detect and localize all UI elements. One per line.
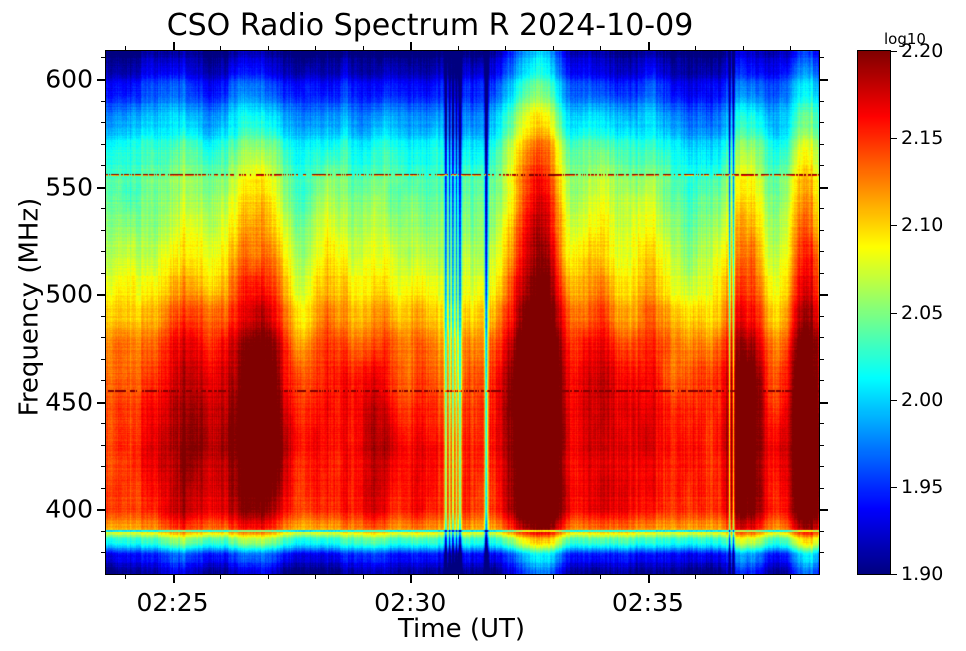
y-tick-minor <box>101 165 106 166</box>
y-tick-minor-right <box>819 316 824 317</box>
y-tick-label: 500 <box>45 280 93 309</box>
y-tick-minor <box>101 230 106 231</box>
x-tick-major <box>648 574 650 583</box>
x-tick-minor-top <box>458 46 459 51</box>
y-tick-minor-right <box>819 57 824 58</box>
y-tick-minor <box>101 57 106 58</box>
colorbar-tick <box>890 487 897 488</box>
x-tick-minor-top <box>505 46 506 51</box>
colorbar-tick <box>890 313 897 314</box>
y-tick-label: 550 <box>45 172 93 201</box>
y-tick-minor <box>101 423 106 424</box>
x-tick-minor <box>743 574 744 579</box>
y-axis-label: Frequency (MHz) <box>15 46 45 569</box>
colorbar: 1.901.952.002.052.102.152.20 <box>857 50 891 575</box>
y-tick-minor <box>101 359 106 360</box>
y-tick-major-right <box>819 294 828 296</box>
y-tick-minor-right <box>819 531 824 532</box>
colorbar-tick-label: 1.90 <box>901 563 943 585</box>
y-tick-minor-right <box>819 101 824 102</box>
x-tick-minor-top <box>600 46 601 51</box>
x-tick-minor-top <box>315 46 316 51</box>
spectrogram-image <box>106 51 819 574</box>
y-tick-minor-right <box>819 359 824 360</box>
y-tick-minor <box>101 251 106 252</box>
y-tick-major-right <box>819 187 828 189</box>
y-tick-minor <box>101 380 106 381</box>
x-tick-minor-top <box>743 46 744 51</box>
x-tick-major <box>410 574 412 583</box>
x-tick-minor <box>458 574 459 579</box>
y-tick-major-right <box>819 509 828 511</box>
y-tick-major <box>97 509 106 511</box>
x-tick-minor <box>220 574 221 579</box>
y-tick-minor-right <box>819 423 824 424</box>
y-tick-minor-right <box>819 144 824 145</box>
x-tick-minor-top <box>268 46 269 51</box>
x-tick-minor <box>790 574 791 579</box>
y-tick-minor-right <box>819 380 824 381</box>
y-tick-minor <box>101 208 106 209</box>
spectrogram-figure: CSO Radio Spectrum R 2024-10-09 40045050… <box>0 0 966 651</box>
y-tick-minor-right <box>819 488 824 489</box>
y-tick-minor <box>101 445 106 446</box>
x-tick-minor <box>268 574 269 579</box>
x-tick-minor-top <box>125 46 126 51</box>
spectrogram-plot-area: 400450500550600 02:2502:3002:35 <box>105 50 820 575</box>
x-tick-label: 02:25 <box>137 588 209 617</box>
x-tick-minor-top <box>695 46 696 51</box>
y-tick-minor-right <box>819 251 824 252</box>
y-tick-minor <box>101 466 106 467</box>
y-tick-minor <box>101 122 106 123</box>
y-tick-minor <box>101 273 106 274</box>
y-tick-label: 600 <box>45 64 93 93</box>
y-tick-minor-right <box>819 165 824 166</box>
y-tick-minor <box>101 316 106 317</box>
y-tick-minor <box>101 101 106 102</box>
y-tick-minor-right <box>819 208 824 209</box>
y-tick-major <box>97 79 106 81</box>
x-tick-major <box>173 574 175 583</box>
x-tick-label: 02:30 <box>374 588 446 617</box>
x-tick-label: 02:35 <box>612 588 684 617</box>
colorbar-tick-label: 2.15 <box>901 127 943 149</box>
colorbar-tick <box>890 138 897 139</box>
y-tick-label: 450 <box>45 387 93 416</box>
y-tick-minor <box>101 337 106 338</box>
x-tick-minor-top <box>220 46 221 51</box>
y-tick-minor-right <box>819 552 824 553</box>
y-tick-major-right <box>819 402 828 404</box>
y-tick-minor-right <box>819 230 824 231</box>
y-tick-major-right <box>819 79 828 81</box>
y-tick-major <box>97 187 106 189</box>
y-tick-minor-right <box>819 337 824 338</box>
x-tick-major-top <box>648 42 650 51</box>
x-tick-minor <box>695 574 696 579</box>
x-tick-minor-top <box>790 46 791 51</box>
x-tick-minor-top <box>363 46 364 51</box>
colorbar-gradient <box>858 51 890 574</box>
y-tick-minor <box>101 552 106 553</box>
x-tick-major-top <box>173 42 175 51</box>
x-tick-minor <box>363 574 364 579</box>
colorbar-tick-label: 2.05 <box>901 302 943 324</box>
x-tick-minor <box>553 574 554 579</box>
x-axis-label: Time (UT) <box>105 614 818 644</box>
page-title: CSO Radio Spectrum R 2024-10-09 <box>0 8 860 43</box>
x-tick-minor <box>315 574 316 579</box>
colorbar-tick-label: 2.20 <box>901 40 943 62</box>
colorbar-tick-label: 2.10 <box>901 214 943 236</box>
y-tick-major <box>97 402 106 404</box>
x-tick-minor-top <box>553 46 554 51</box>
y-tick-minor-right <box>819 122 824 123</box>
y-tick-minor <box>101 488 106 489</box>
y-tick-minor-right <box>819 466 824 467</box>
y-tick-major <box>97 294 106 296</box>
x-tick-minor <box>505 574 506 579</box>
y-tick-minor <box>101 531 106 532</box>
colorbar-tick-label: 1.95 <box>901 476 943 498</box>
colorbar-tick <box>890 400 897 401</box>
y-tick-minor <box>101 144 106 145</box>
x-tick-minor <box>125 574 126 579</box>
colorbar-tick <box>890 574 897 575</box>
colorbar-tick-label: 2.00 <box>901 389 943 411</box>
x-tick-major-top <box>410 42 412 51</box>
colorbar-tick <box>890 51 897 52</box>
y-tick-minor-right <box>819 273 824 274</box>
y-tick-label: 400 <box>45 495 93 524</box>
x-tick-minor <box>600 574 601 579</box>
colorbar-tick <box>890 225 897 226</box>
y-tick-minor-right <box>819 445 824 446</box>
